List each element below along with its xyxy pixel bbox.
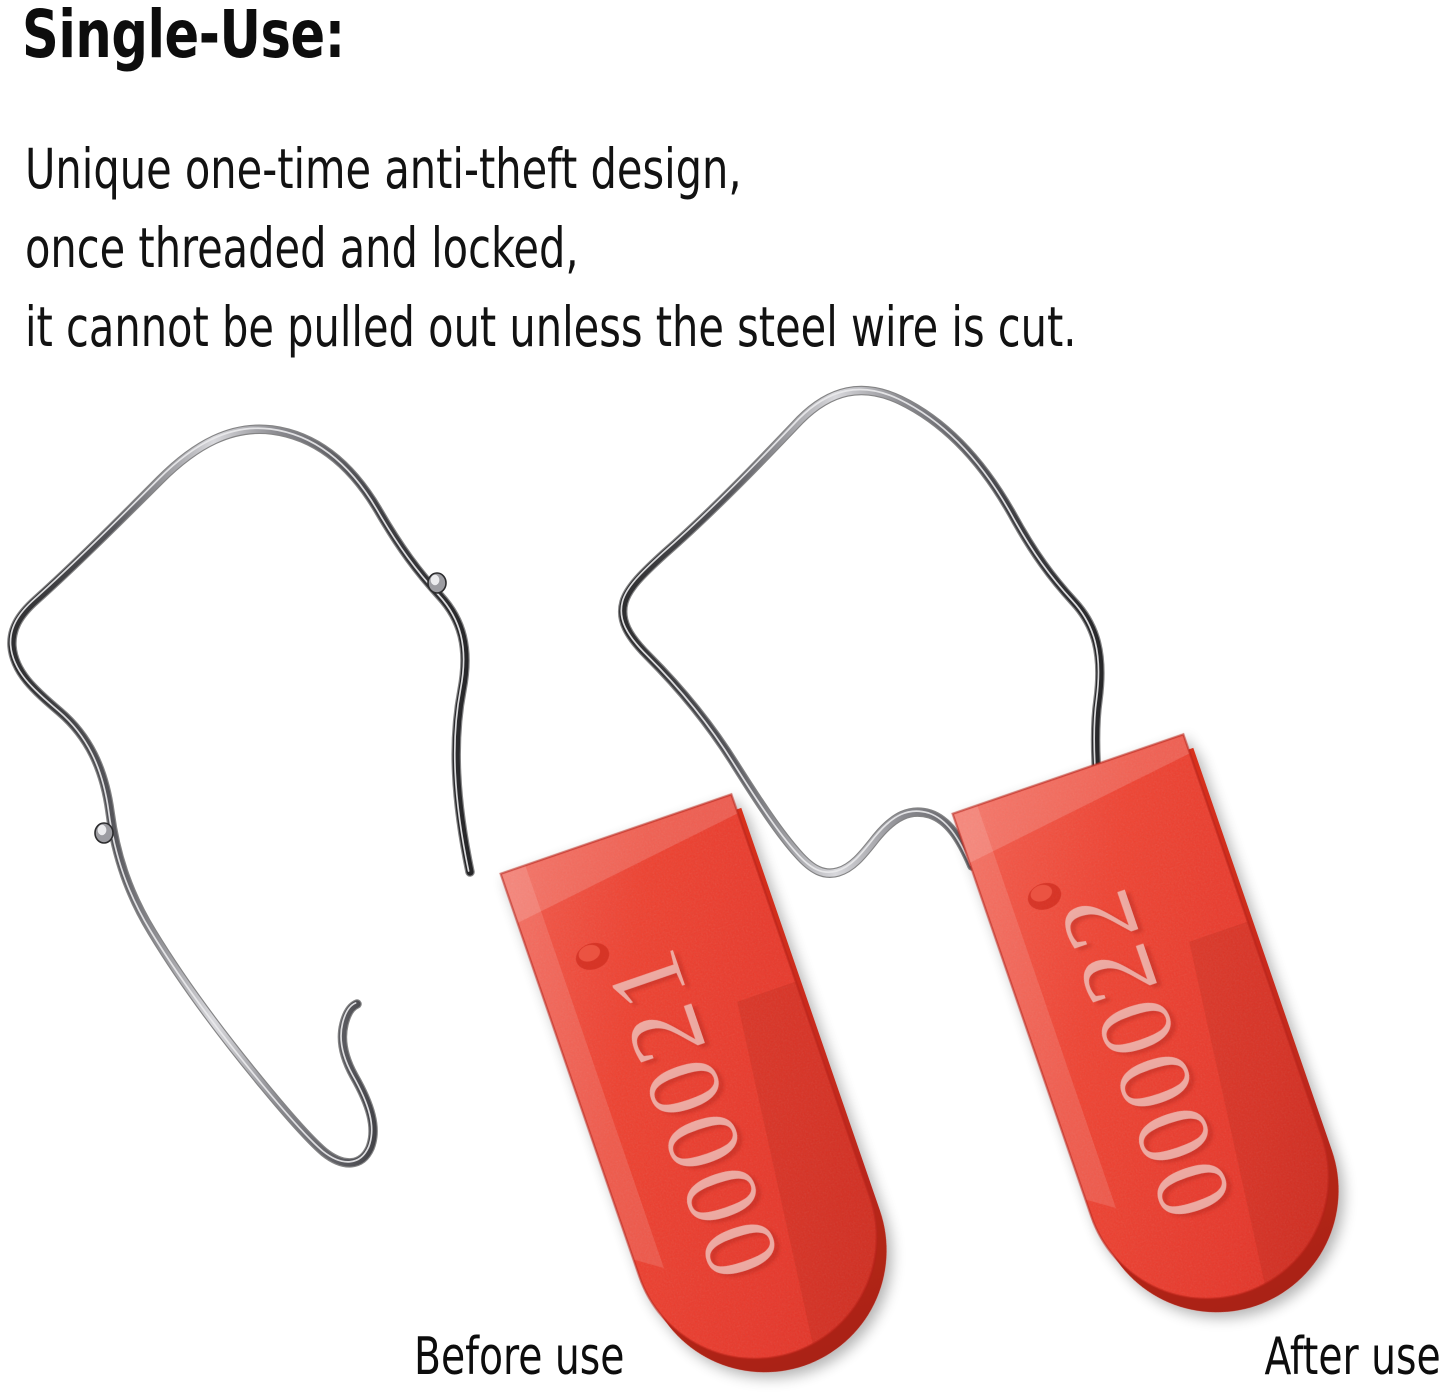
seal-after-tag: 000022 000022 bbox=[942, 724, 1374, 1349]
seal-before-tag: 000021 000021 bbox=[490, 784, 922, 1397]
wire-crimp-bead-upper bbox=[428, 573, 446, 593]
caption-before-use: Before use bbox=[414, 1327, 624, 1387]
seal-before-use: 000021 000021 bbox=[11, 428, 923, 1397]
seal-before-wire bbox=[11, 428, 470, 1163]
caption-after-use: After use bbox=[1265, 1327, 1441, 1387]
infographic-page: Single-Use: Unique one-time anti-theft d… bbox=[0, 0, 1445, 1397]
wire-crimp-bead-lower bbox=[95, 823, 113, 843]
product-illustration: 000021 000021 bbox=[0, 0, 1445, 1397]
